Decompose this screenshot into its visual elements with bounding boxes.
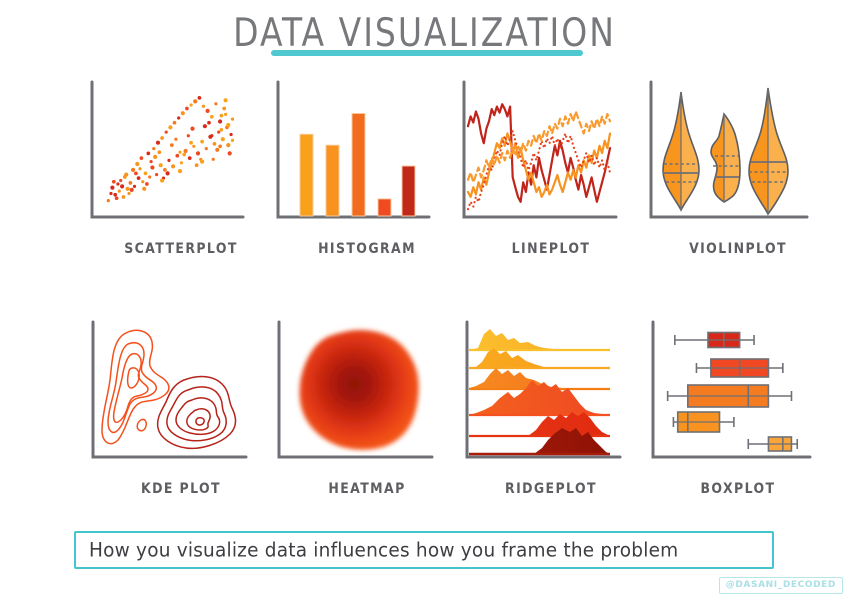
scatter-point: [113, 193, 117, 197]
scatter-point: [190, 103, 193, 106]
lineplot-axes: [464, 82, 616, 217]
kdeplot-caption: KDE PLOT: [88, 480, 274, 497]
violin-group-2: [711, 114, 740, 202]
scatter-point: [116, 182, 119, 185]
histogram-bar: [300, 134, 313, 216]
scatter-point: [127, 192, 130, 195]
scatter-point: [123, 175, 127, 179]
heatmap-blob: [300, 330, 419, 450]
scatter-point: [193, 99, 197, 103]
scatter-point: [210, 115, 214, 119]
caption-text: How you visualize data influences how yo…: [89, 539, 678, 561]
scatter-point: [200, 140, 204, 144]
scatter-point: [192, 145, 195, 148]
heatmap-caption: HEATMAP: [274, 480, 460, 497]
violinplot-svg: [645, 78, 831, 238]
lineplot-series: [468, 104, 610, 209]
scatter-point: [175, 154, 179, 158]
histogram-bar: [402, 166, 415, 216]
scatter-point: [130, 188, 134, 192]
scatter-point: [190, 127, 194, 131]
scatter-point: [159, 163, 163, 167]
scatter-point: [187, 134, 190, 137]
scatterplot-points: [107, 96, 234, 202]
scatter-point: [155, 173, 158, 176]
lineplot-caption: LINEPLOT: [458, 240, 644, 257]
scatter-point: [188, 156, 192, 160]
scatter-point: [185, 107, 189, 111]
histogram-caption: HISTOGRAM: [274, 240, 460, 257]
histogram-plot-area: [274, 78, 460, 238]
scatter-point: [180, 161, 183, 164]
scatter-point: [129, 181, 133, 185]
scatter-point: [160, 178, 164, 182]
scatter-point: [182, 153, 186, 157]
scatter-point: [213, 142, 217, 146]
ridgeplot-caption: RIDGEPLOT: [458, 480, 644, 497]
violin-group-1: [663, 92, 699, 210]
lineplot-plot-area: [458, 78, 644, 238]
scatter-point: [144, 172, 148, 176]
scatter-point: [212, 158, 215, 161]
scatter-point: [112, 180, 116, 184]
scatter-point: [118, 190, 121, 193]
scatter-point: [224, 113, 227, 116]
scatter-point: [141, 180, 144, 183]
scatter-point: [203, 124, 207, 128]
scatter-point: [218, 119, 222, 123]
violin-group-3: [749, 88, 788, 214]
scatter-point: [177, 116, 180, 119]
scatter-point: [231, 139, 234, 142]
watermark-handle: @DASANI_DECODED: [719, 577, 843, 594]
scatter-point: [210, 134, 213, 137]
scatter-point: [137, 176, 141, 180]
scatter-point: [153, 155, 157, 159]
scatter-point: [157, 150, 161, 154]
scatter-point: [215, 148, 219, 152]
scatter-point: [220, 128, 224, 132]
boxplot-svg: [645, 318, 831, 478]
scatter-point: [189, 141, 193, 145]
scatter-point: [140, 156, 144, 160]
scatter-point: [205, 147, 208, 150]
boxplot-box: [696, 359, 782, 377]
scatter-point: [231, 118, 234, 121]
boxplot-box: [675, 333, 754, 348]
scatterplot-svg: [88, 78, 274, 238]
scatter-point: [224, 98, 228, 102]
scatter-point: [171, 164, 175, 168]
scatter-point: [119, 179, 122, 182]
scatter-point: [156, 141, 160, 145]
boxplot-plot-area: [645, 318, 831, 478]
panel-histogram: HISTOGRAM: [274, 78, 460, 278]
lineplot-svg: [458, 78, 644, 238]
boxplot-box: [668, 385, 792, 407]
boxplot-box: [673, 412, 733, 432]
scatter-point: [230, 133, 233, 136]
scatter-point: [174, 138, 177, 141]
scatter-point: [150, 160, 153, 163]
scatter-point: [221, 137, 225, 141]
boxplot-box: [748, 437, 797, 451]
panel-scatterplot: SCATTERPLOT: [88, 78, 274, 278]
scatter-point: [131, 168, 135, 172]
scatter-point: [146, 152, 150, 156]
scatter-point: [198, 96, 202, 100]
scatter-point: [109, 192, 112, 195]
scatter-point: [148, 175, 151, 178]
scatter-point: [178, 151, 181, 154]
ridge-1: [469, 329, 610, 350]
panel-violinplot: VIOLINPLOT: [645, 78, 831, 278]
scatter-point: [120, 184, 124, 188]
scatter-point: [152, 147, 155, 150]
scatter-point: [135, 162, 139, 166]
scatter-point: [165, 131, 168, 134]
scatter-point: [107, 199, 110, 202]
kdeplot-axes: [93, 322, 246, 457]
scatter-point: [202, 105, 205, 108]
scatter-point: [200, 160, 204, 164]
scatter-point: [163, 168, 167, 172]
scatter-point: [126, 187, 130, 191]
scatter-point: [226, 123, 230, 127]
scatter-point: [173, 121, 177, 125]
scatter-point: [196, 151, 200, 155]
scatter-point: [220, 114, 224, 118]
scatter-point: [195, 163, 199, 167]
histogram-bar: [352, 114, 365, 217]
scatter-point: [160, 136, 164, 140]
title-block: DATA VISUALIZATION: [0, 8, 849, 50]
kde-cluster-upper-left: [102, 330, 169, 443]
scatter-point: [218, 144, 222, 148]
panel-heatmap: HEATMAP: [274, 318, 460, 518]
scatter-point: [138, 167, 141, 170]
ridgeplot-plot-area: [458, 318, 644, 478]
scatter-point: [217, 131, 220, 134]
scatter-point: [142, 187, 146, 191]
scatterplot-plot-area: [88, 78, 274, 238]
scatter-point: [207, 121, 211, 125]
scatter-point: [226, 143, 230, 147]
scatter-point: [181, 111, 185, 115]
scatter-point: [168, 125, 172, 129]
scatter-point: [214, 102, 217, 105]
panel-lineplot: LINEPLOT: [458, 78, 644, 278]
scatter-point: [206, 109, 210, 113]
scatter-point: [167, 159, 170, 162]
boxplot-caption: BOXPLOT: [645, 480, 831, 497]
violinplot-plot-area: [645, 78, 831, 238]
scatterplot-caption: SCATTERPLOT: [88, 240, 274, 257]
scatter-point: [170, 143, 174, 147]
scatter-point: [122, 195, 126, 199]
panel-kdeplot: KDE PLOT: [88, 318, 274, 518]
histogram-bar: [378, 199, 391, 216]
scatter-point: [166, 171, 170, 175]
ridgeplot-svg: [458, 318, 644, 478]
violinplot-caption: VIOLINPLOT: [645, 240, 831, 257]
panel-ridgeplot: RIDGEPLOT: [458, 318, 644, 518]
histogram-svg: [274, 78, 460, 238]
heatmap-plot-area: [274, 318, 460, 478]
scatter-point: [145, 182, 149, 186]
scatter-point: [178, 169, 182, 173]
scatter-point: [133, 185, 136, 188]
kdeplot-plot-area: [88, 318, 274, 478]
caption-banner: How you visualize data influences how yo…: [74, 531, 774, 569]
histogram-bars: [300, 114, 415, 217]
panel-boxplot: BOXPLOT: [645, 318, 831, 518]
scatterplot-axes: [92, 82, 243, 217]
scatter-point: [150, 165, 154, 169]
scatter-point: [222, 107, 226, 111]
scatter-point: [134, 172, 138, 176]
kdeplot-svg: [88, 318, 274, 478]
histogram-bar: [326, 145, 339, 216]
title-underline: [271, 50, 583, 56]
scatter-point: [115, 196, 119, 200]
scatter-point: [110, 186, 114, 190]
boxplot-boxes: [668, 333, 798, 452]
scatter-point: [228, 151, 232, 155]
scatter-point: [184, 149, 188, 153]
heatmap-svg: [274, 318, 460, 478]
